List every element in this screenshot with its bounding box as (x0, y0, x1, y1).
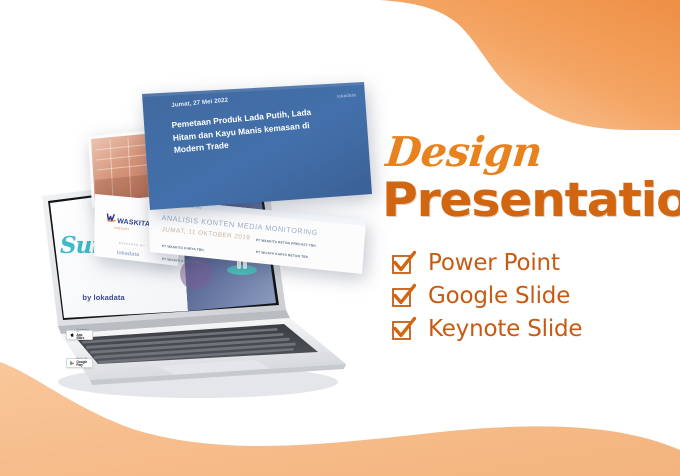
feature-label: Google Slide (428, 283, 570, 309)
checkbox-checked-icon[interactable] (390, 316, 416, 342)
feature-label: Power Point (428, 250, 560, 276)
decorative-blob-top-right (380, 0, 680, 130)
feature-item-google-slide[interactable]: Google Slide (390, 283, 672, 309)
poster-canvas: Sur by lokadata Download on the App Stor… (0, 0, 680, 476)
checkbox-checked-icon[interactable] (390, 250, 416, 276)
google-play-badge[interactable]: GET IT ON Google Play (66, 358, 93, 368)
script-headline: Design (384, 132, 674, 173)
main-headline: Presentation (382, 177, 680, 225)
waskita-w-mark (106, 212, 117, 223)
feature-item-keynote-slide[interactable]: Keynote Slide (390, 316, 672, 342)
app-store-badge[interactable]: Download on the App Store (66, 330, 93, 340)
checkbox-checked-icon[interactable] (390, 283, 416, 309)
survey-app-byline: by lokadata (82, 293, 124, 302)
google-play-icon (69, 360, 75, 366)
feature-item-power-point[interactable]: Power Point (390, 250, 672, 276)
apple-icon (69, 332, 75, 338)
feature-list: Power Point Google Slide (390, 250, 672, 342)
app-store-badge-line2: App Store (76, 334, 91, 341)
blue-presentation-slide: lokadata Jumat, 27 Mei 2022 Pemetaan Pro… (142, 82, 372, 210)
headline-column: Design Presentation Power Point (382, 132, 672, 349)
google-play-badge-line2: Google Play (76, 361, 91, 368)
feature-label: Keynote Slide (428, 316, 582, 342)
